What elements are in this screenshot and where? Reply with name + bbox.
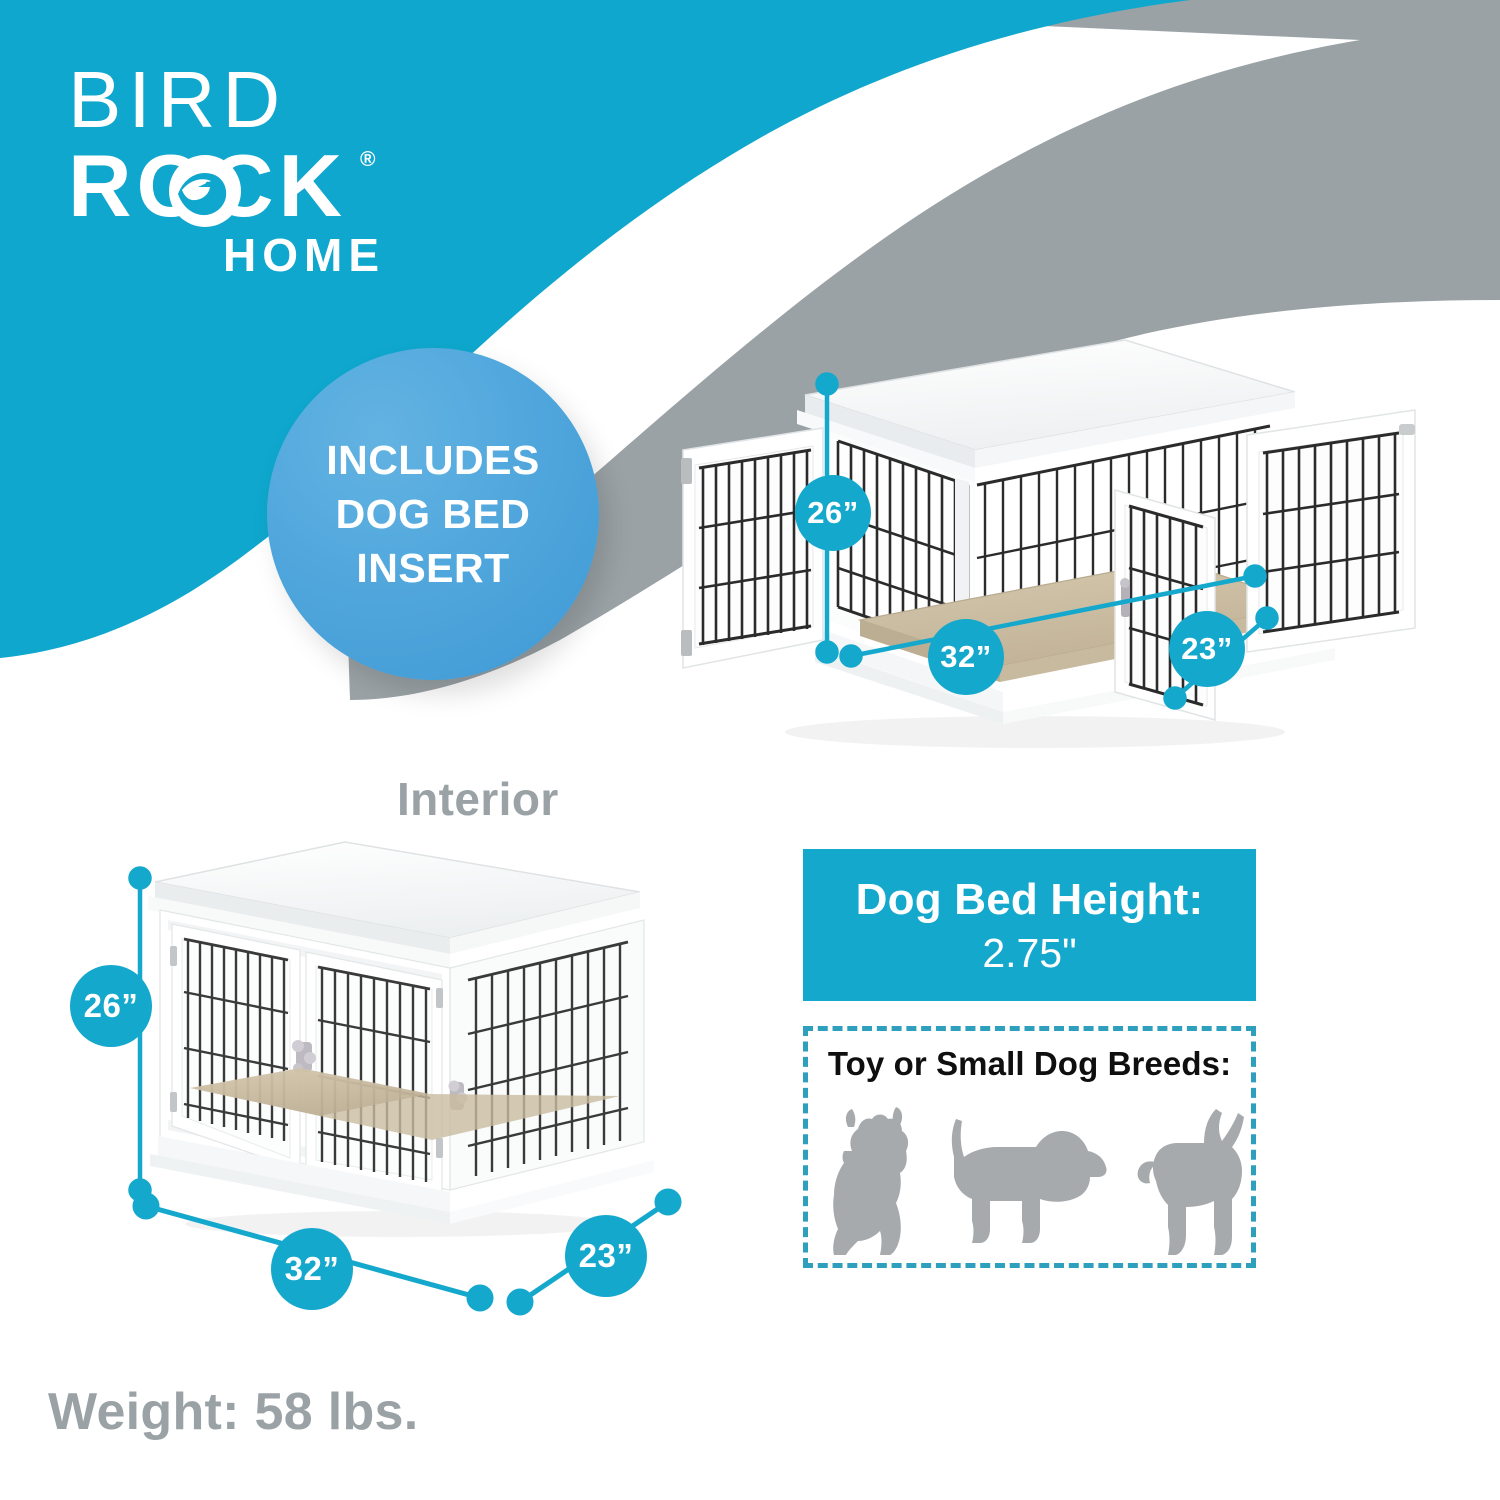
dog-bed-height-panel: Dog Bed Height: 2.75"	[803, 849, 1256, 1001]
door-bumper-icon	[1399, 424, 1415, 435]
interior-height-badge: 26”	[70, 965, 152, 1047]
dachshund-dog-silhouette	[952, 1119, 1107, 1243]
weight-label: Weight: 58 lbs.	[48, 1382, 418, 1442]
door-latch-icon	[1120, 578, 1130, 617]
interior-caption: Interior	[397, 772, 559, 826]
crate-door-left-open[interactable]	[681, 428, 823, 668]
door-hinge-icon	[170, 946, 177, 966]
dog-silhouettes-row	[808, 1089, 1261, 1267]
logo-rock-row: ROCK ®	[68, 142, 448, 234]
interior-depth-badge: 23”	[565, 1215, 647, 1297]
logo-text-home: HOME	[223, 228, 448, 282]
registered-mark: ®	[360, 148, 375, 172]
exterior-width-badge: 32”	[928, 619, 1004, 695]
infographic-canvas: BIRD ROCK ® HOME INCLUDES DOG BED INSERT…	[0, 0, 1500, 1500]
dog-breeds-title: Toy or Small Dog Breeds:	[808, 1045, 1251, 1083]
badge-label: INCLUDES DOG BED INSERT	[326, 433, 540, 595]
badge-line-1: INCLUDES	[326, 433, 540, 487]
interior-width-badge: 32”	[271, 1228, 353, 1310]
dog-breeds-panel: Toy or Small Dog Breeds:	[803, 1026, 1256, 1268]
door-hinge-icon	[681, 458, 692, 484]
includes-dog-bed-badge: INCLUDES DOG BED INSERT	[267, 348, 599, 680]
door-hinge-icon	[436, 988, 443, 1008]
dog-bed-height-title: Dog Bed Height:	[856, 876, 1204, 924]
terrier-dog-silhouette	[833, 1107, 908, 1255]
brand-logo: BIRD ROCK ® HOME	[68, 62, 448, 282]
exterior-crate-illustration	[655, 300, 1455, 770]
exterior-height-badge: 26”	[795, 475, 871, 551]
badge-line-3: INSERT	[326, 541, 540, 595]
chihuahua-dog-silhouette	[1138, 1109, 1244, 1255]
exterior-depth-badge: 23”	[1169, 611, 1245, 687]
logo-text-bird: BIRD	[68, 62, 448, 138]
badge-line-2: DOG BED	[326, 487, 540, 541]
crate-door-front-right[interactable]	[306, 952, 443, 1192]
bird-icon	[168, 154, 242, 228]
interior-bottom-dimension-guides	[120, 1180, 740, 1340]
dog-bed-height-value: 2.75"	[982, 933, 1076, 974]
